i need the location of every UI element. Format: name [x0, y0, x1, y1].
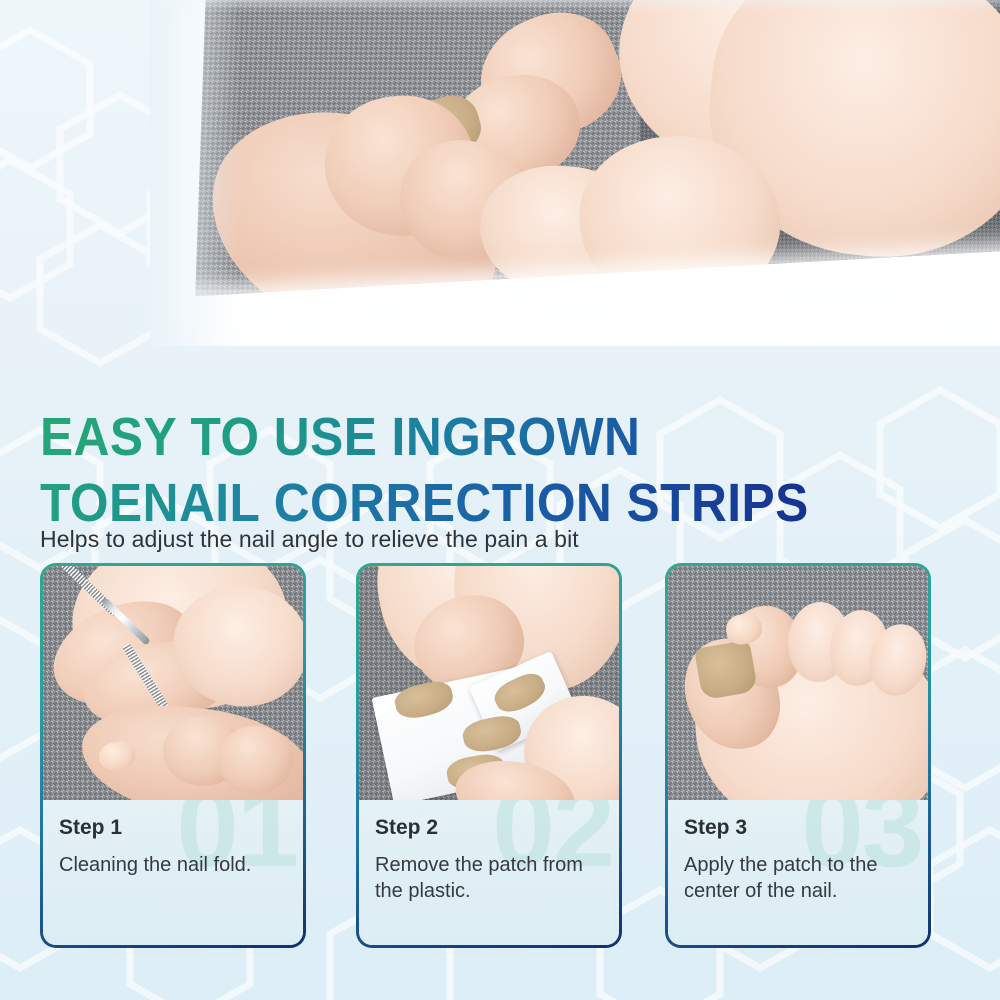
- step-3-label: Step 3: [684, 816, 912, 840]
- page-title: EASY TO USE INGROWN TOENAIL CORRECTION S…: [40, 404, 809, 536]
- step-2-photo: [359, 566, 619, 800]
- step-card-2: 02 Step 2 Remove the patch from the plas…: [356, 563, 622, 948]
- step-1-label: Step 1: [59, 816, 287, 840]
- step-2-description: Remove the patch from the plastic.: [375, 852, 603, 904]
- step-3-description: Apply the patch to the center of the nai…: [684, 852, 912, 904]
- step-1-photo: [43, 566, 303, 800]
- step-2-label: Step 2: [375, 816, 603, 840]
- page-subtitle: Helps to adjust the nail angle to reliev…: [40, 526, 579, 553]
- step-3-photo: [668, 566, 928, 800]
- step-card-1: 01 Step 1 Cleaning the nail fold.: [40, 563, 306, 948]
- infographic-page: EASY TO USE INGROWN TOENAIL CORRECTION S…: [0, 0, 1000, 1000]
- hero-photo: [150, 0, 1000, 346]
- step-1-description: Cleaning the nail fold.: [59, 852, 287, 878]
- headline-line-1: EASY TO USE INGROWN: [40, 404, 809, 470]
- step-card-3: 03 Step 3 Apply the patch to the center …: [665, 563, 931, 948]
